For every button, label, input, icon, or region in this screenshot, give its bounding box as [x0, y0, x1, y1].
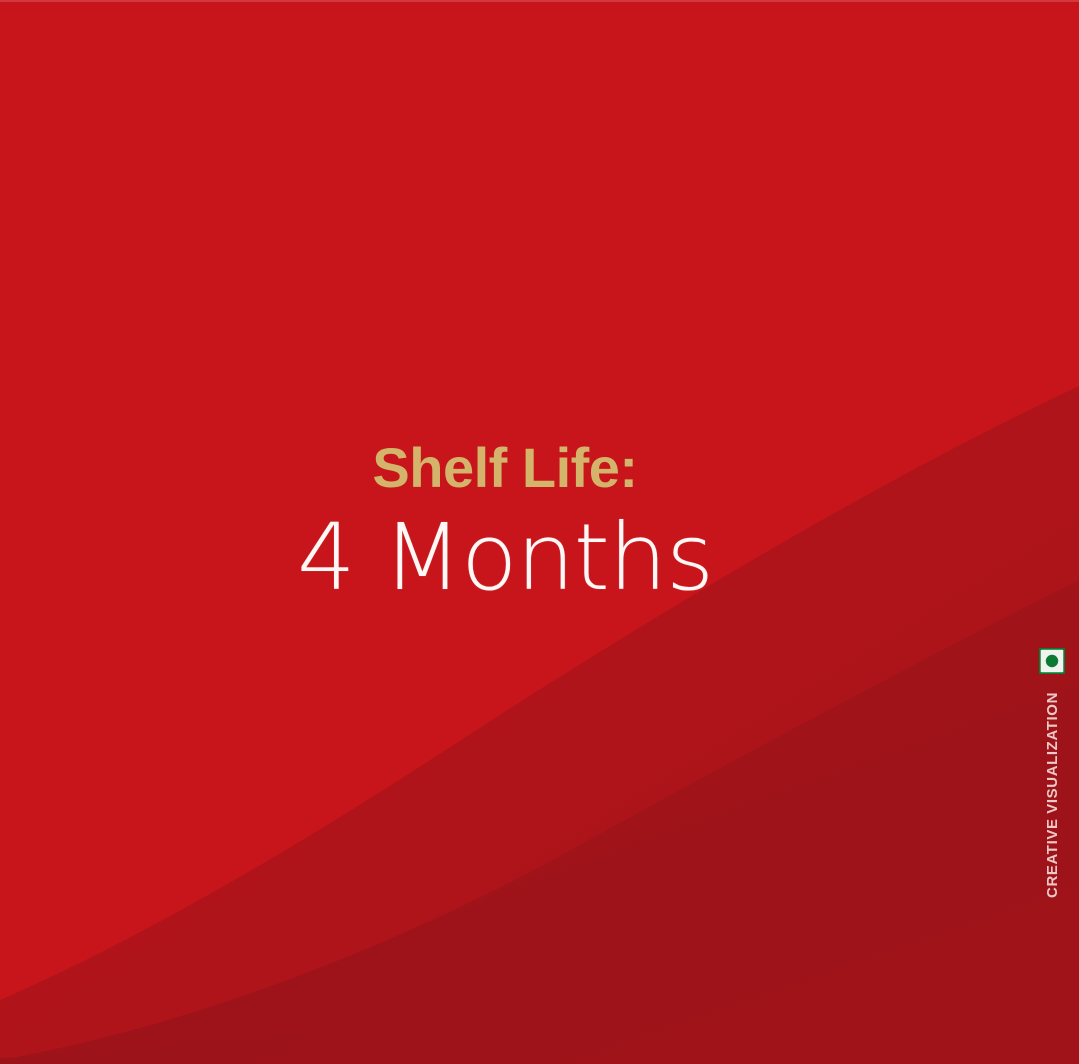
shelf-life-poster: Shelf Life: 4 Months CREATIVE VISUALIZAT…	[0, 0, 1079, 1064]
headline-block: Shelf Life: 4 Months	[0, 440, 1010, 607]
right-rail: CREATIVE VISUALIZATION	[1037, 648, 1067, 898]
creative-visualization-caption: CREATIVE VISUALIZATION	[1045, 692, 1060, 898]
vegetarian-mark-icon	[1039, 648, 1065, 674]
shelf-life-label: Shelf Life:	[0, 440, 1010, 496]
shelf-life-value: 4 Months	[0, 510, 1010, 607]
